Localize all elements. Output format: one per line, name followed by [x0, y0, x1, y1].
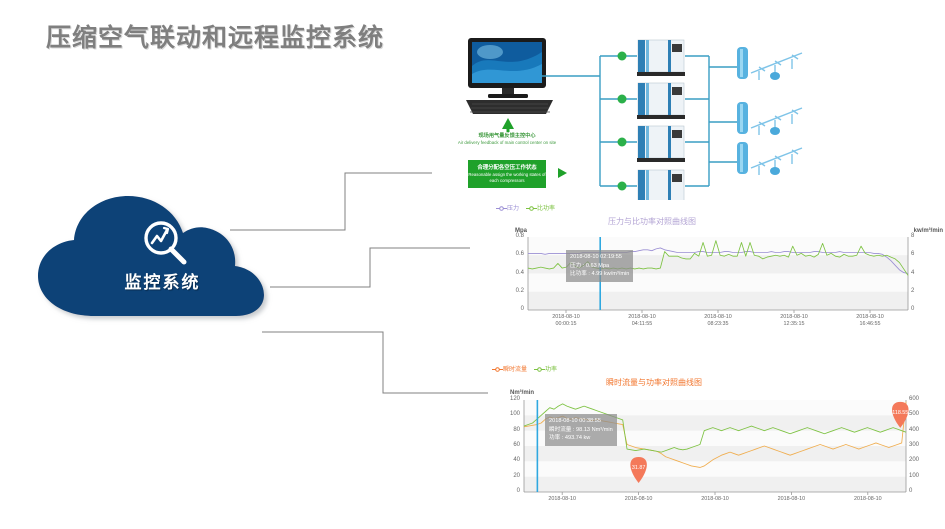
y2-tick-label: 8	[911, 233, 914, 239]
chart1-plot	[488, 200, 945, 332]
connector-middle	[270, 248, 470, 287]
chart1-tooltip: 2018-08-10 02:19:55压力 : 0.63 Mpa比功率 : 4.…	[566, 250, 633, 282]
x-tick-label: 2018-08-1008:23:35	[688, 314, 748, 328]
y2-tick-label: 2	[911, 288, 914, 294]
svg-text:118.55: 118.55	[892, 410, 908, 416]
y2-tick-label: 400	[909, 427, 919, 433]
tooltip-line-2: 功率 : 493.74 kw	[549, 434, 613, 443]
y2-tick-label: 300	[909, 442, 919, 448]
air-tanks-and-distribution	[737, 47, 802, 175]
y2-tick-label: 0	[909, 488, 912, 494]
y2-tick-label: 0	[911, 306, 914, 312]
y-tick-label: 80	[488, 427, 520, 433]
tooltip-line-2: 比功率 : 4.99 kw/m³/min	[570, 270, 629, 279]
y-tick-label: 60	[488, 442, 520, 448]
piping-network	[432, 14, 945, 204]
y-tick-label: 0.4	[488, 270, 524, 276]
connector-bottom	[262, 332, 490, 393]
x-tick-label: 2018-08-10	[609, 496, 669, 503]
slide-root: 压缩空气联动和远程监控系统 监控系统	[0, 0, 945, 529]
page-title: 压缩空气联动和远程监控系统	[46, 18, 384, 54]
flow-power-chart[interactable]: 瞬时流量功率 瞬时流量与功率对照曲线图 Nm³/min 31.87118.55 …	[488, 360, 945, 529]
cloud-label: 监控系统	[30, 268, 295, 293]
system-topology-diagram: 现场用气量反馈主控中心 Air delivery feedback of mai…	[432, 14, 945, 204]
monitoring-cloud[interactable]: 监控系统	[30, 190, 295, 325]
pressure-power-chart[interactable]: 压力比功率 压力与比功率对照曲线图 Mpa kw/m³/min 0.80.60.…	[488, 200, 945, 332]
y-tick-label: 100	[488, 411, 520, 417]
y-tick-label: 0.6	[488, 251, 524, 257]
x-tick-label: 2018-08-10	[532, 496, 592, 503]
compressor-units	[637, 40, 685, 204]
tooltip-line-0: 2018-08-10 00:38:55	[549, 417, 613, 426]
y2-tick-label: 600	[909, 396, 919, 402]
y-tick-label: 0	[488, 306, 524, 312]
compressor-status-nodes	[618, 52, 627, 191]
y2-tick-label: 100	[909, 473, 919, 479]
y2-tick-label: 4	[911, 270, 914, 276]
y-tick-label: 120	[488, 396, 520, 402]
y-tick-label: 40	[488, 457, 520, 463]
svg-text:31.87: 31.87	[632, 465, 646, 471]
x-tick-label: 2018-08-10	[838, 496, 898, 503]
chart2-tooltip: 2018-08-10 00:38:55瞬时流量 : 98.13 Nm³/min功…	[545, 414, 617, 446]
tooltip-line-1: 瞬时流量 : 98.13 Nm³/min	[549, 426, 613, 435]
tooltip-line-1: 压力 : 0.63 Mpa	[570, 262, 629, 271]
y2-tick-label: 200	[909, 457, 919, 463]
y2-tick-label: 500	[909, 411, 919, 417]
y-tick-label: 0.8	[488, 233, 524, 239]
x-tick-label: 2018-08-1016:46:55	[840, 314, 900, 328]
y-tick-label: 0	[488, 488, 520, 494]
y2-tick-label: 6	[911, 251, 914, 257]
y-tick-label: 20	[488, 473, 520, 479]
x-tick-label: 2018-08-1012:35:15	[764, 314, 824, 328]
x-tick-label: 2018-08-1000:00:15	[536, 314, 596, 328]
x-tick-label: 2018-08-10	[685, 496, 745, 503]
x-tick-label: 2018-08-10	[761, 496, 821, 503]
tooltip-line-0: 2018-08-10 02:19:55	[570, 253, 629, 262]
magnifier-chart-icon	[140, 218, 192, 270]
y-tick-label: 0.2	[488, 288, 524, 294]
x-tick-label: 2018-08-1004:11:55	[612, 314, 672, 328]
